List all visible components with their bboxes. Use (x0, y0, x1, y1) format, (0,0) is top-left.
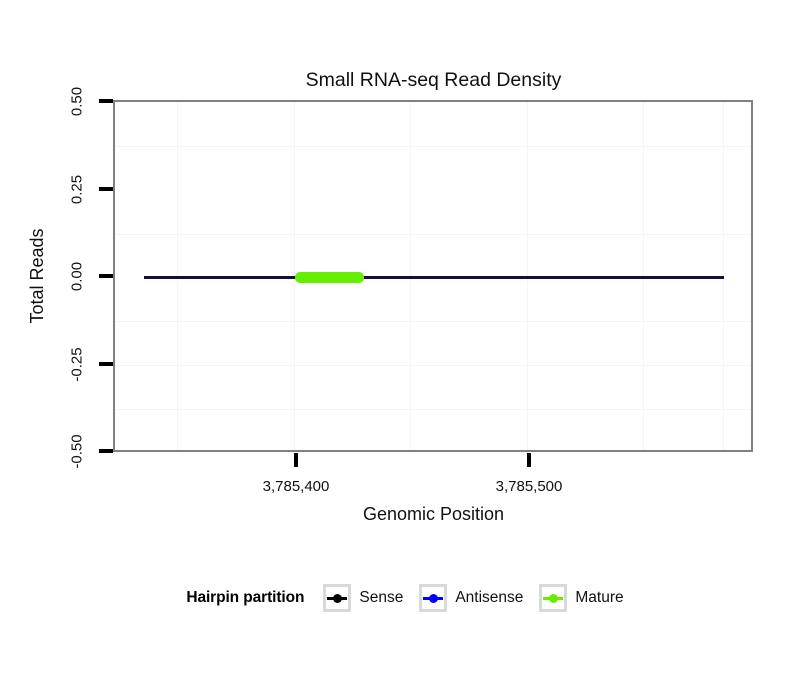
line-dot-key-icon (539, 584, 567, 612)
gridline-horizontal (115, 321, 751, 322)
y-tick-mark (99, 449, 113, 453)
y-tick-label: 0.25 (70, 171, 85, 209)
line-dot-key-icon (419, 584, 447, 612)
y-axis-title-text: Total Reads (26, 196, 48, 356)
gridline-horizontal (115, 409, 751, 410)
y-tick-label: 0.00 (70, 258, 85, 296)
legend-label: Antisense (455, 589, 523, 607)
legend-entry-antisense[interactable]: Antisense (419, 584, 539, 612)
legend-entry-mature[interactable]: Mature (539, 584, 623, 612)
y-tick-label: 0.50 (70, 83, 85, 121)
y-tick-label: -0.50 (70, 429, 85, 475)
chart-figure: Small RNA-seq Read Density 0.50 0.25 0.0… (0, 0, 810, 690)
x-axis-title: Genomic Position (113, 503, 754, 525)
y-tick-label: -0.25 (70, 342, 85, 388)
y-tick-mark (99, 274, 113, 278)
legend-title: Hairpin partition (186, 589, 304, 607)
series-segment-mature (295, 272, 364, 283)
chart-title: Small RNA-seq Read Density (113, 68, 754, 92)
series-line-sense (144, 276, 724, 279)
legend-label: Mature (575, 589, 623, 607)
gridline-horizontal (115, 365, 751, 366)
x-tick-mark (527, 453, 531, 467)
legend-entry-sense[interactable]: Sense (323, 584, 419, 612)
gridline-horizontal (115, 234, 751, 235)
x-tick-label: 3,785,400 (236, 479, 356, 494)
y-tick-mark (99, 187, 113, 191)
plot-panel (113, 100, 753, 452)
legend-label: Sense (359, 589, 403, 607)
y-tick-mark (99, 362, 113, 366)
y-axis-title: Total Reads (26, 195, 48, 287)
gridline-horizontal (115, 146, 751, 147)
line-dot-key-icon (323, 584, 351, 612)
x-tick-label: 3,785,500 (469, 479, 589, 494)
x-tick-mark (294, 453, 298, 467)
y-tick-mark (99, 99, 113, 103)
legend: Hairpin partition Sense Antisense Mature (0, 580, 810, 616)
